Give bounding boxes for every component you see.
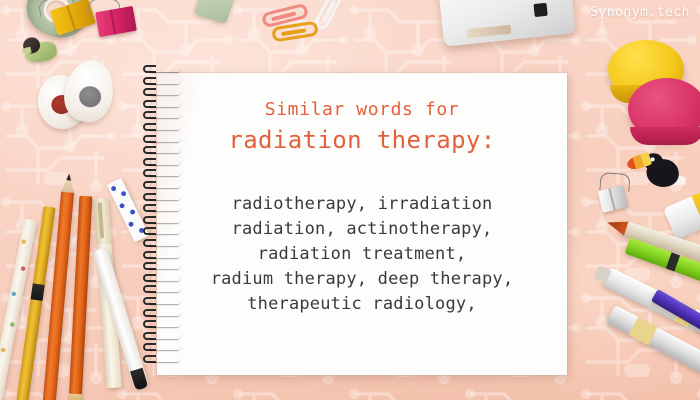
synonym-line: radiation, actinotherapy, (211, 217, 514, 242)
toucan-sticker-icon (629, 145, 682, 193)
egg-yolk-grey (78, 85, 103, 109)
spiral-coil (143, 66, 183, 73)
notepad-content: Similar words for radiation therapy: rad… (157, 73, 567, 375)
synonym-line: radium therapy, deep therapy, (211, 267, 514, 292)
synonym-line: radiotherapy, irradiation (211, 192, 514, 217)
synonym-line: therapeutic radiology, (211, 292, 514, 317)
pencil-ferrule (31, 283, 45, 301)
synonym-list: radiotherapy, irradiationradiation, acti… (211, 192, 514, 317)
macaron-filling (630, 127, 700, 145)
desk-background: Synonym.tech (0, 0, 700, 400)
heading-line-1: Similar words for (265, 97, 459, 123)
macaron-pink-icon (628, 78, 700, 140)
heading-line-2: radiation therapy: (228, 124, 495, 156)
brand-watermark: Synonym.tech (590, 5, 690, 20)
camera-grip (467, 25, 512, 39)
pencil-end-cap (68, 394, 82, 400)
crayon-band (666, 252, 680, 271)
synonym-line: radiation treatment, (211, 242, 514, 267)
coil-wire (150, 66, 183, 72)
camera-button-icon (533, 3, 547, 17)
